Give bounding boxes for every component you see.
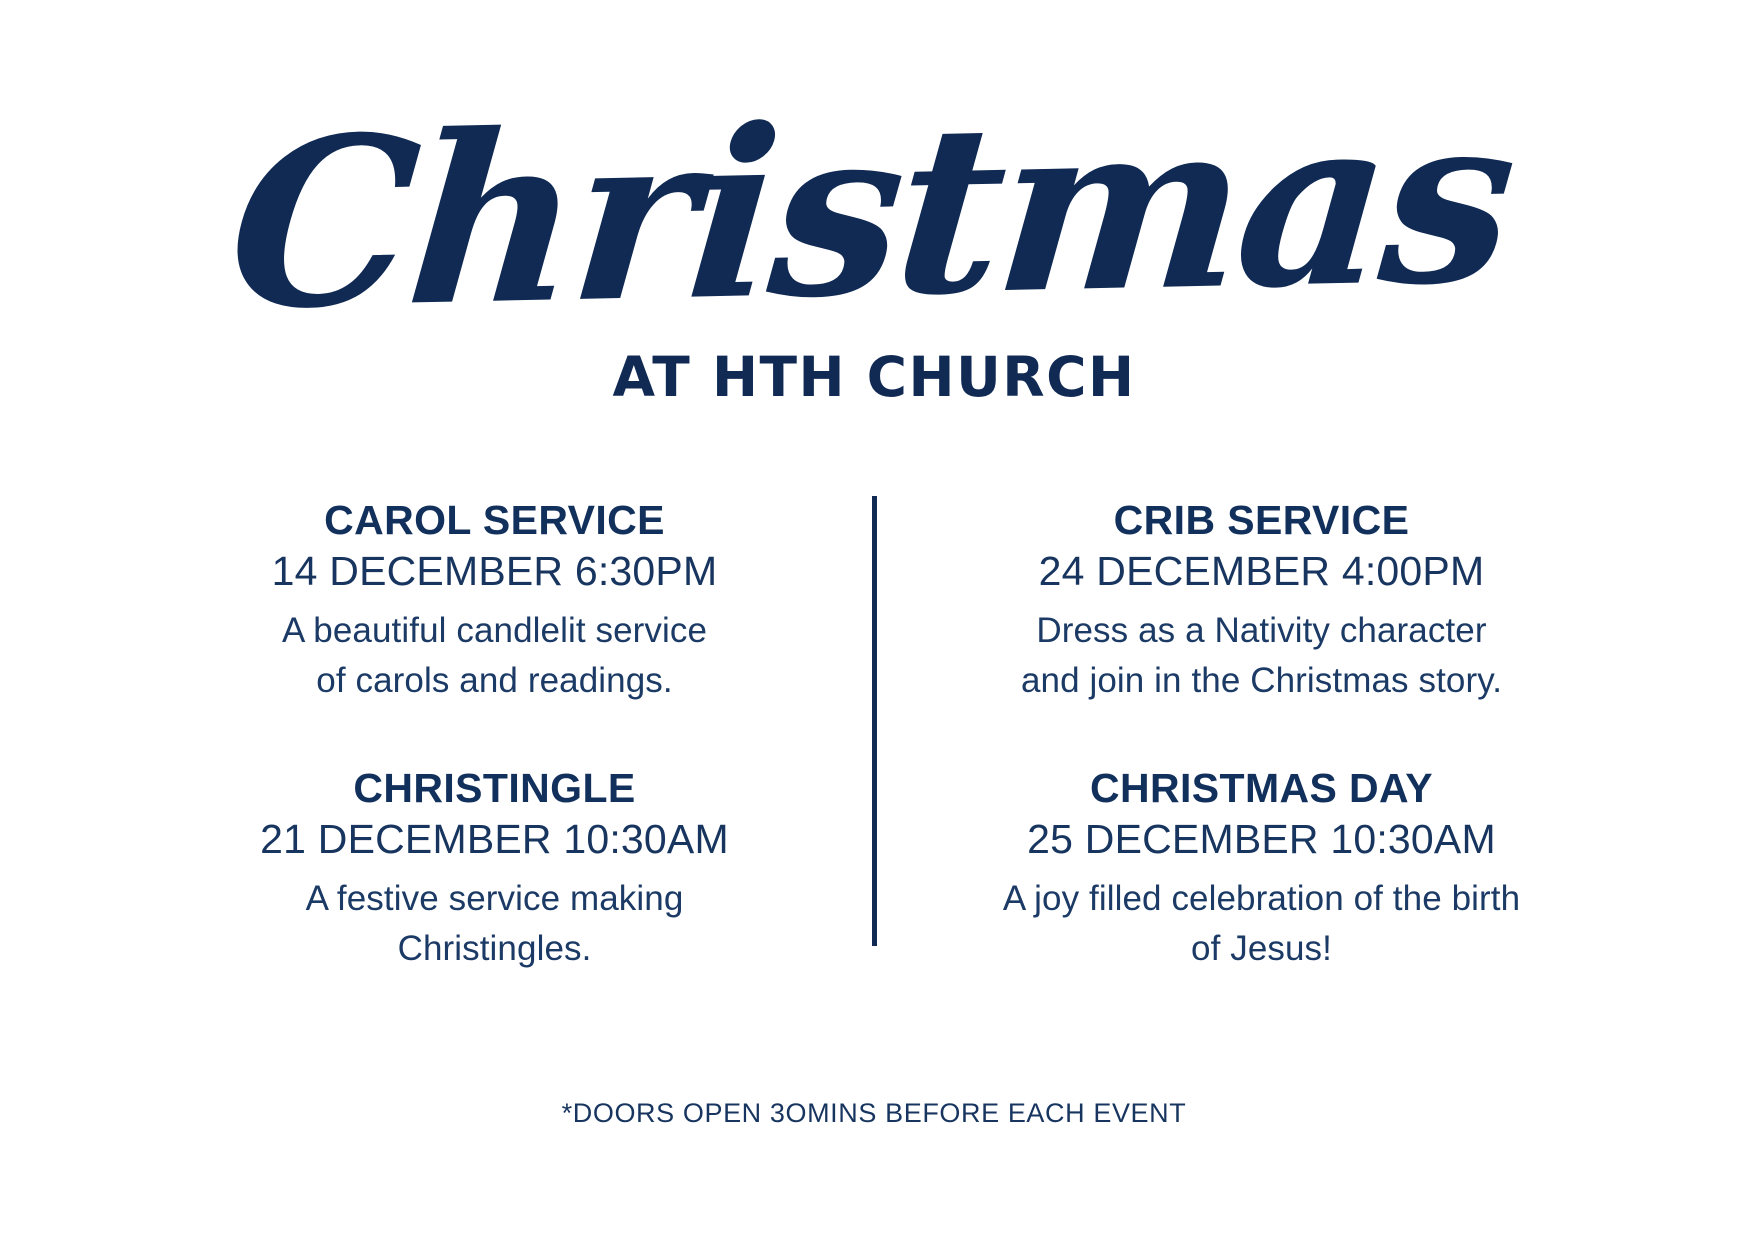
event-description: A festive service making Christingles. <box>170 874 820 973</box>
event-date: 14 DECEMBER 6:30PM <box>170 546 820 596</box>
event-name: CAROL SERVICE <box>170 496 820 544</box>
event-date: 24 DECEMBER 4:00PM <box>945 546 1579 596</box>
event-date: 21 DECEMBER 10:30AM <box>170 814 820 864</box>
event-description: Dress as a Nativity character and join i… <box>945 606 1579 705</box>
event-description: A joy filled celebration of the birth of… <box>945 874 1579 973</box>
christmas-service-poster: Christmas AT HTH CHURCH CAROL SERVICE 14… <box>0 0 1748 1240</box>
event-name: CHRISTMAS DAY <box>945 764 1579 812</box>
event-name: CRIB SERVICE <box>945 496 1579 544</box>
event-crib-service: CRIB SERVICE 24 DECEMBER 4:00PM Dress as… <box>945 496 1579 706</box>
doors-open-note: *DOORS OPEN 3OMINS BEFORE EACH EVENT <box>0 1097 1748 1129</box>
event-name: CHRISTINGLE <box>170 764 820 812</box>
poster-header: Christmas AT HTH CHURCH <box>0 0 1748 405</box>
event-christmas-day: CHRISTMAS DAY 25 DECEMBER 10:30AM A joy … <box>945 764 1579 974</box>
events-column-right: CRIB SERVICE 24 DECEMBER 4:00PM Dress as… <box>899 496 1579 974</box>
event-carol-service: CAROL SERVICE 14 DECEMBER 6:30PM A beaut… <box>170 496 820 706</box>
poster-footer: *DOORS OPEN 3OMINS BEFORE EACH EVENT <box>0 1097 1748 1129</box>
event-date: 25 DECEMBER 10:30AM <box>945 814 1579 864</box>
events-columns: CAROL SERVICE 14 DECEMBER 6:30PM A beaut… <box>0 496 1748 946</box>
event-christingle: CHRISTINGLE 21 DECEMBER 10:30AM A festiv… <box>170 764 820 974</box>
events-column-left: CAROL SERVICE 14 DECEMBER 6:30PM A beaut… <box>170 496 850 974</box>
column-divider <box>872 496 877 946</box>
event-description: A beautiful candlelit service of carols … <box>170 606 820 705</box>
page-title: Christmas <box>0 0 1748 346</box>
